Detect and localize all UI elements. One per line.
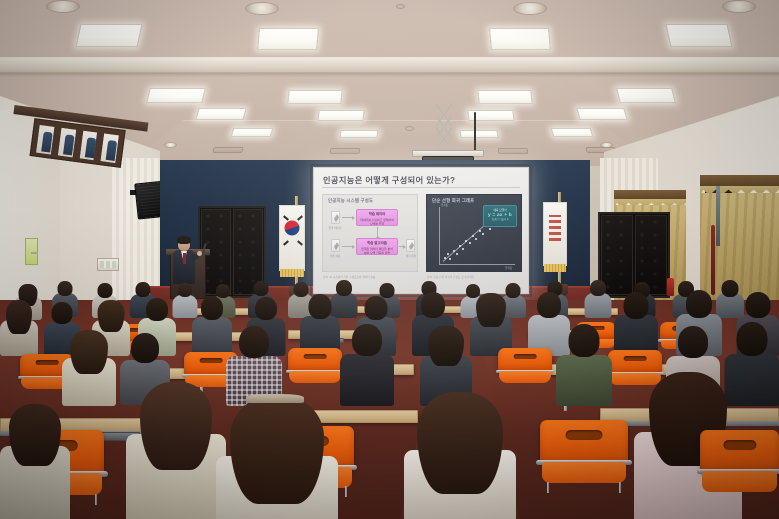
presenter-tie <box>183 253 186 264</box>
curtain-valance <box>700 175 779 187</box>
ceiling-led-panel <box>551 128 594 137</box>
attendee-hairband <box>246 394 304 403</box>
attendee-head <box>201 296 223 320</box>
ceiling-led-panel <box>339 130 378 138</box>
chair-back <box>498 348 552 373</box>
ceiling-led-panel <box>489 28 551 50</box>
ceiling-downlight <box>245 2 279 15</box>
portrait-frame <box>98 131 121 165</box>
smoke-detector <box>396 4 405 9</box>
portrait-frame <box>77 128 100 162</box>
chair <box>498 348 552 388</box>
door-handle-icon[interactable] <box>31 252 38 254</box>
ceiling-led-panel <box>666 24 733 47</box>
attendee-head <box>58 281 73 296</box>
attendee <box>614 292 658 354</box>
attendee-head <box>254 281 269 296</box>
attendee-head <box>309 294 332 319</box>
attendee-head <box>624 292 649 319</box>
chair-handle-slot-icon <box>723 440 756 450</box>
attendee <box>0 404 70 519</box>
attendee-head <box>590 280 606 296</box>
flag-fringe <box>280 269 304 277</box>
attendee-head <box>178 283 192 297</box>
chair-handle-slot-icon <box>514 354 537 360</box>
ceiling-led-panel <box>616 88 676 103</box>
chair-back <box>700 430 779 473</box>
ceiling-downlight <box>164 142 177 148</box>
attendee <box>300 294 340 354</box>
chair-handle-slot-icon <box>304 354 327 360</box>
attendee-head <box>98 283 113 298</box>
ceiling-led-panel <box>257 28 319 50</box>
trigram-icon <box>297 240 303 245</box>
ceiling-led-panel <box>576 108 627 120</box>
taeguk-symbol-icon <box>285 220 300 235</box>
ceiling-led-panel <box>195 108 246 120</box>
attendee <box>0 300 38 354</box>
ceiling-air-vent <box>498 148 529 154</box>
chair-handle-slot-icon <box>36 360 59 366</box>
trigram-icon <box>283 215 289 220</box>
presenter-hand <box>197 251 202 256</box>
attendee <box>556 324 612 404</box>
portrait-frame <box>55 125 78 159</box>
attendee <box>246 394 304 406</box>
attendee-head <box>146 298 168 321</box>
attendee-head <box>686 290 712 318</box>
projection-screen-frame <box>310 164 532 297</box>
attendee <box>126 382 226 519</box>
attendee-head <box>239 326 269 358</box>
attendee-head <box>537 292 561 318</box>
attendee-hair <box>417 392 503 494</box>
attendee-head <box>736 322 767 356</box>
attendee-head <box>745 292 770 318</box>
organization-flag <box>543 202 567 266</box>
window-gap <box>716 186 720 246</box>
chair-legs <box>547 482 621 494</box>
ceiling-led-panel <box>287 90 342 104</box>
chair-handle-slot-icon <box>566 430 603 440</box>
chair-seat <box>702 471 778 492</box>
attendee <box>584 280 611 317</box>
attendee-head <box>136 282 151 297</box>
attendee-head <box>569 324 600 357</box>
attendee-hair <box>70 330 108 374</box>
attendee <box>62 330 116 404</box>
ceiling-led-panel <box>477 90 532 104</box>
chair <box>540 420 628 492</box>
ceiling-downlight <box>46 0 80 13</box>
flag-fringe <box>544 264 566 272</box>
attendee-torso <box>340 354 394 406</box>
attendee-head <box>421 292 445 318</box>
attendee-hair <box>140 382 212 470</box>
presenter-hair <box>177 236 191 244</box>
chair-handle-slot-icon <box>624 356 647 362</box>
organization-emblem-icon <box>549 215 561 241</box>
ceiling-led-panel <box>146 88 206 103</box>
lecture-hall-scene: 인공지능은 어떻게 구성되어 있는가? 인공지능 시스템 구성도 입력 데이터 … <box>0 0 779 519</box>
attendee-head <box>52 302 73 324</box>
attendee-hair <box>9 404 61 466</box>
attendee-hair <box>230 396 324 504</box>
attendee-hair <box>428 326 464 366</box>
trigram-icon <box>283 240 289 245</box>
attendee <box>216 396 338 519</box>
chair <box>288 348 342 388</box>
ceiling-air-vent <box>212 147 243 153</box>
attendee <box>470 293 512 354</box>
ceiling-led-panel <box>317 110 364 121</box>
ceiling-led-panel <box>76 24 143 47</box>
ceiling-downlight <box>513 2 547 15</box>
projector-cable <box>474 112 476 154</box>
attendee-head <box>678 326 708 358</box>
chair-handle-slot-icon <box>200 358 223 364</box>
chair-back <box>540 420 628 465</box>
trigram-icon <box>297 215 303 220</box>
curtain-tieback <box>711 225 715 295</box>
attendee-head <box>255 297 277 320</box>
attendee-head <box>352 324 382 356</box>
attendee <box>404 392 516 519</box>
korean-national-flag <box>279 205 305 271</box>
attendee <box>340 324 394 404</box>
chair-back <box>288 348 342 373</box>
portrait-frame <box>34 123 57 157</box>
chair-seat <box>289 371 341 383</box>
ceiling-led-panel <box>231 128 274 137</box>
chair-seat <box>499 371 551 383</box>
attendee-head <box>131 333 159 363</box>
attendee-hair <box>476 293 506 327</box>
chair-seat <box>542 462 626 484</box>
ceiling-downlight <box>722 0 756 13</box>
light-switch-panel[interactable] <box>97 258 119 271</box>
attendee-head <box>365 296 388 320</box>
attendee-torso <box>556 355 612 406</box>
attendee <box>226 326 282 404</box>
scissor-lift-icon <box>430 112 456 152</box>
curtain-valance <box>614 190 686 200</box>
attendee-torso <box>584 293 611 318</box>
attendee-hair <box>98 300 125 332</box>
chair <box>700 430 779 500</box>
ceiling-cove-band <box>0 57 779 73</box>
attendee-hair <box>6 300 32 334</box>
ceiling-air-vent <box>330 148 361 154</box>
